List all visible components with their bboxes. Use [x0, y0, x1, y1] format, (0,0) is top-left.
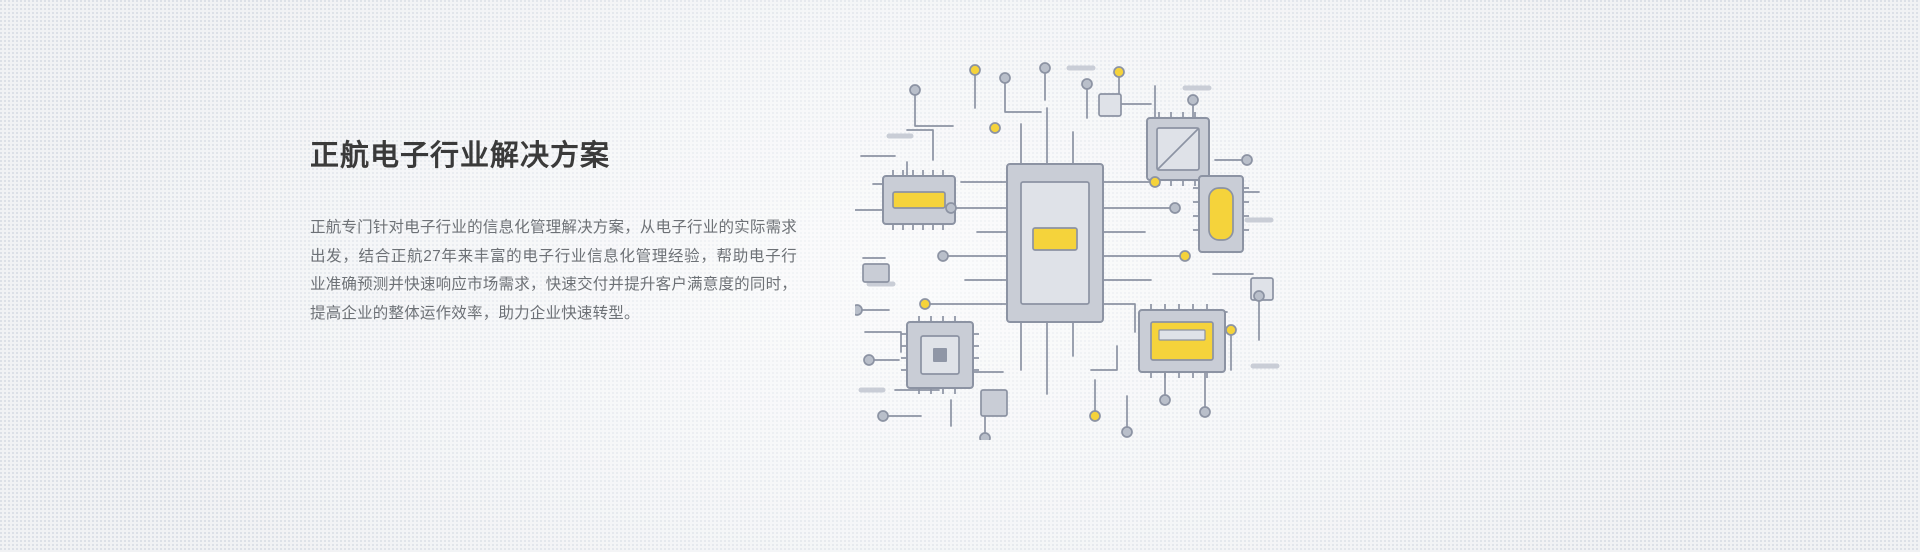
right-chip-icon — [1193, 176, 1249, 252]
central-chip-icon — [1001, 164, 1103, 322]
top-right-chip-icon — [1147, 112, 1209, 186]
page-title: 正航电子行业解决方案 — [310, 136, 810, 176]
left-chip-icon — [883, 170, 955, 230]
hero-text-block: 正航电子行业解决方案 正航专门针对电子行业的信息化管理解决方案，从电子行业的实际… — [310, 136, 810, 328]
hero-description: 正航专门针对电子行业的信息化管理解决方案，从电子行业的实际需求出发，结合正航27… — [310, 214, 797, 328]
bottom-right-chip-icon — [1139, 304, 1225, 378]
hero-banner: 正航电子行业解决方案 正航专门针对电子行业的信息化管理解决方案，从电子行业的实际… — [0, 0, 1920, 552]
bottom-left-chip-icon — [901, 316, 979, 394]
circuit-board-illustration — [855, 60, 1285, 440]
